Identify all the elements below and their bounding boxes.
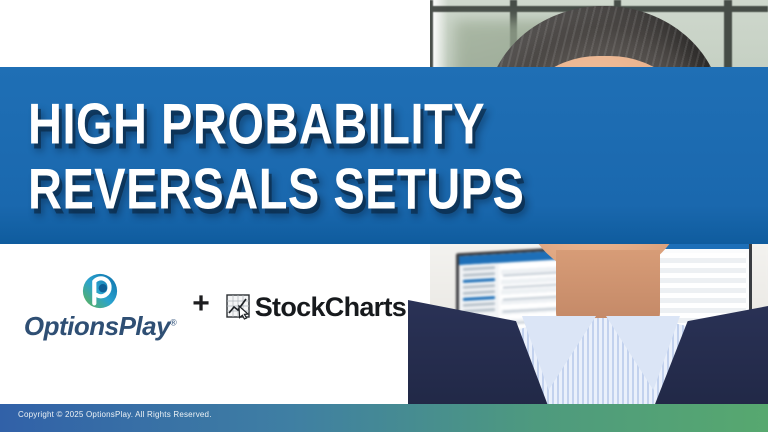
copyright-text: Copyright © 2025 OptionsPlay. All Rights… [18,410,212,419]
title-line-1: HIGH PROBABILITY [28,94,520,151]
optionsplay-wordmark-text: OptionsPlay [24,311,170,341]
title-banner-right-wing [520,67,768,244]
title-line-2: REVERSALS SETUPS [28,159,520,216]
stockcharts-grid-arrow-logo-icon [226,294,252,320]
white-plate-gap [0,244,430,252]
optionsplay-wordmark: OptionsPlay® [24,311,176,342]
brand-lockup: OptionsPlay® + StockCharts [0,252,430,362]
title-block: HIGH PROBABILITY REVERSALS SETUPS [0,67,520,244]
stockcharts-wordmark: StockCharts [255,292,406,323]
brand-separator: + [190,287,212,327]
optionsplay-trademark: ® [170,317,176,327]
optionsplay-logo: OptionsPlay® [24,272,176,342]
optionsplay-circle-p-logo-icon [81,272,119,310]
video-thumbnail-card: HIGH PROBABILITY REVERSALS SETUPS Option… [0,0,768,432]
white-plate-top [0,0,430,67]
stockcharts-logo: StockCharts [226,292,406,323]
